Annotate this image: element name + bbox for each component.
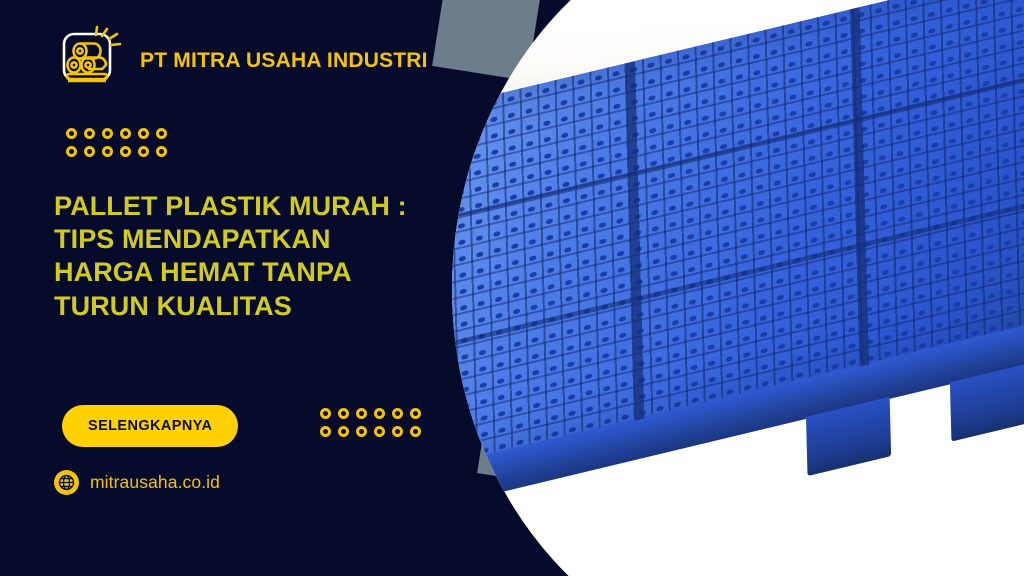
dot [120,128,131,139]
dot [138,128,149,139]
dot [102,128,113,139]
dot [410,426,421,437]
headline-line: PALLET PLASTIK MURAH : [54,191,407,221]
dot [102,146,113,157]
dot [320,408,331,419]
website-line[interactable]: mitrausaha.co.id [54,470,220,495]
dot [392,408,403,419]
content-column: PT MITRA USAHA INDUSTRI PALLET PLASTIK M… [0,0,470,576]
dot [374,426,385,437]
dot [156,146,167,157]
promo-banner: PT MITRA USAHA INDUSTRI PALLET PLASTIK M… [0,0,1024,576]
headline: PALLET PLASTIK MURAH : TIPS MENDAPATKAN … [54,190,454,323]
dot [84,128,95,139]
dot [374,408,385,419]
headline-line: HARGA HEMAT TANPA [54,257,352,287]
dot [84,146,95,157]
dot [338,426,349,437]
dot [338,408,349,419]
brand-name: PT MITRA USAHA INDUSTRI [140,49,428,73]
dot [356,426,367,437]
website-url[interactable]: mitrausaha.co.id [90,472,220,493]
read-more-button[interactable]: SELENGKAPNYA [62,405,238,447]
globe-icon [54,470,79,495]
stacked-rolls-icon [52,24,126,98]
dot [410,408,421,419]
brand-lockup: PT MITRA USAHA INDUSTRI [52,24,428,98]
dot [66,128,77,139]
dot [156,128,167,139]
dot [138,146,149,157]
dot [392,426,403,437]
dot-grid-bottom [320,408,428,444]
headline-line: TIPS MENDAPATKAN [54,224,331,254]
dot [120,146,131,157]
headline-line: TURUN KUALITAS [54,291,292,321]
dot [356,408,367,419]
dot [320,426,331,437]
product-photo [452,0,1024,576]
dot-grid-top [66,128,174,164]
dot [66,146,77,157]
product-photo-mask [452,0,1024,576]
plastic-pallet-illustration [452,0,1024,576]
